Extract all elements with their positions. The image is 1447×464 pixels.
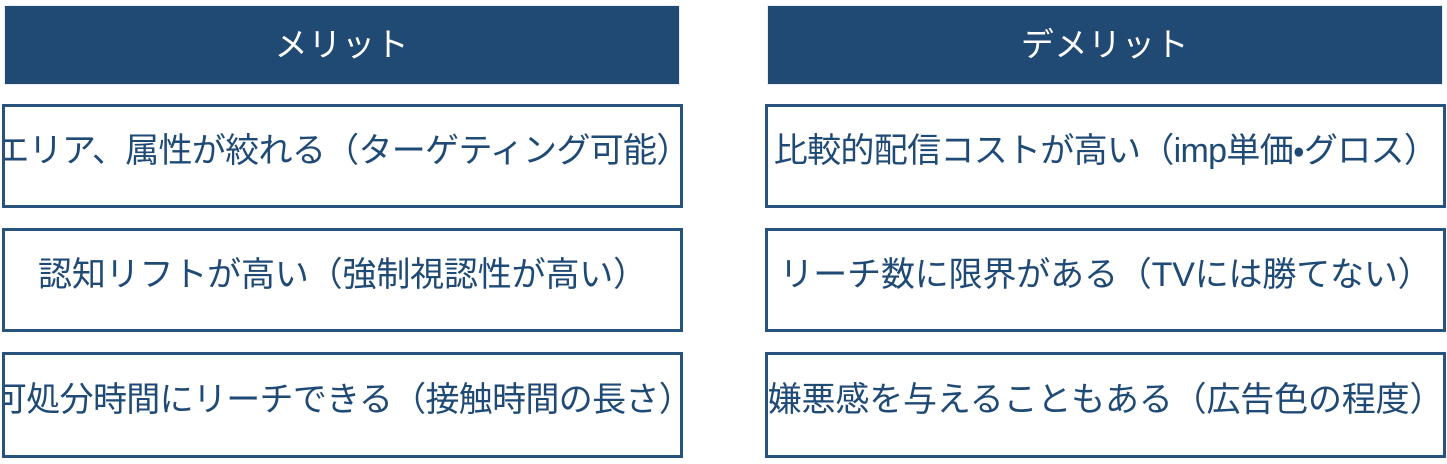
- demerit-item-1-label: 比較的配信コストが高い（imp単価・グロス）: [774, 133, 1437, 170]
- demerit-item-1: 比較的配信コストが高い（imp単価・グロス）: [765, 104, 1446, 208]
- demerit-item-3-label: 嫌悪感を与えることもある（広告色の程度）: [768, 382, 1444, 419]
- merit-item-3: 可処分時間にリーチできる（接触時間の長さ）: [2, 352, 683, 458]
- demerit-item-2-label: リーチ数に限界がある（TVには勝てない）: [779, 257, 1431, 294]
- demerit-item-3: 嫌悪感を与えることもある（広告色の程度）: [765, 352, 1446, 458]
- merit-item-2-label: 認知リフトが高い（強制視認性が高い）: [38, 257, 647, 294]
- merit-item-1: エリア、属性が絞れる（ターゲティング可能）: [2, 104, 683, 208]
- column-demerit: デメリット 比較的配信コストが高い（imp単価・グロス） リーチ数に限界がある（…: [763, 0, 1447, 464]
- demerit-item-2: リーチ数に限界がある（TVには勝てない）: [765, 228, 1446, 332]
- merit-item-2: 認知リフトが高い（強制視認性が高い）: [2, 228, 683, 332]
- comparison-board: メリット エリア、属性が絞れる（ターゲティング可能） 認知リフトが高い（強制視認…: [0, 0, 1447, 464]
- column-merit: メリット エリア、属性が絞れる（ターゲティング可能） 認知リフトが高い（強制視認…: [0, 0, 684, 464]
- column-header-demerit: デメリット: [767, 5, 1443, 85]
- column-header-merit-label: メリット: [275, 28, 410, 61]
- column-header-merit: メリット: [4, 5, 680, 85]
- merit-item-1-label: エリア、属性が絞れる（ターゲティング可能）: [2, 133, 683, 170]
- column-header-demerit-label: デメリット: [1021, 28, 1189, 61]
- merit-item-3-label: 可処分時間にリーチできる（接触時間の長さ）: [2, 382, 683, 419]
